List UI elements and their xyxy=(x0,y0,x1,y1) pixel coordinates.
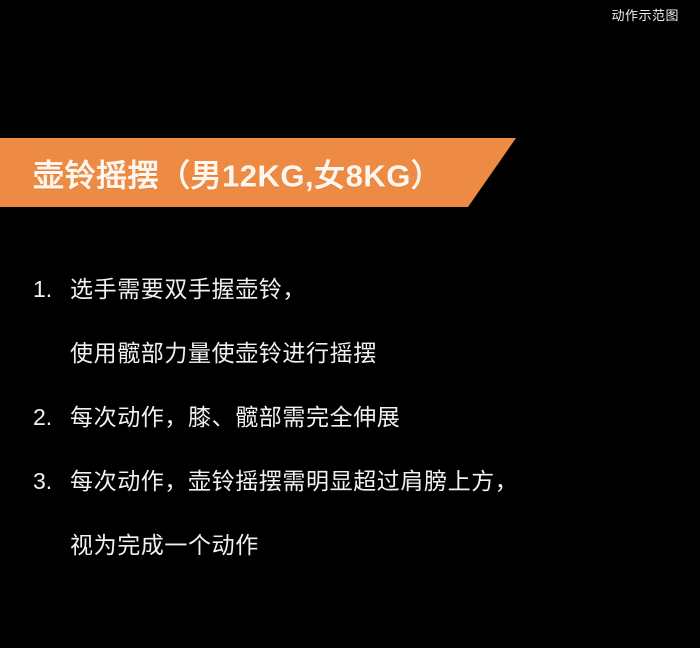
list-item-marker: 3. xyxy=(33,456,70,506)
list-item: 2. 每次动作，膝、髋部需完全伸展 xyxy=(33,392,673,442)
list-item-marker: 1. xyxy=(33,264,70,314)
slide-root: 动作示范图 壶铃摇摆（男12KG,女8KG） 1. 选手需要双手握壶铃， 使用髋… xyxy=(0,0,700,648)
list-item-line: 使用髋部力量使壶铃进行摇摆 xyxy=(70,328,673,378)
list-item-marker: 2. xyxy=(33,392,70,442)
list-item: 1. 选手需要双手握壶铃， 使用髋部力量使壶铃进行摇摆 xyxy=(33,264,673,378)
list-item-line: 每次动作，膝、髋部需完全伸展 xyxy=(70,392,673,442)
title-banner: 壶铃摇摆（男12KG,女8KG） xyxy=(0,138,516,207)
list-item-line: 视为完成一个动作 xyxy=(70,520,673,570)
list-item-line: 每次动作，壶铃摇摆需明显超过肩膀上方， xyxy=(70,456,673,506)
page-title: 壶铃摇摆（男12KG,女8KG） xyxy=(33,150,442,195)
corner-label: 动作示范图 xyxy=(611,8,679,24)
instruction-list: 1. 选手需要双手握壶铃， 使用髋部力量使壶铃进行摇摆 2. 每次动作，膝、髋部… xyxy=(33,264,673,584)
list-item-body: 每次动作，膝、髋部需完全伸展 xyxy=(70,392,673,442)
list-item-line: 选手需要双手握壶铃， xyxy=(70,264,673,314)
list-item-body: 选手需要双手握壶铃， 使用髋部力量使壶铃进行摇摆 xyxy=(70,264,673,378)
list-item-body: 每次动作，壶铃摇摆需明显超过肩膀上方， 视为完成一个动作 xyxy=(70,456,673,570)
list-item: 3. 每次动作，壶铃摇摆需明显超过肩膀上方， 视为完成一个动作 xyxy=(33,456,673,570)
